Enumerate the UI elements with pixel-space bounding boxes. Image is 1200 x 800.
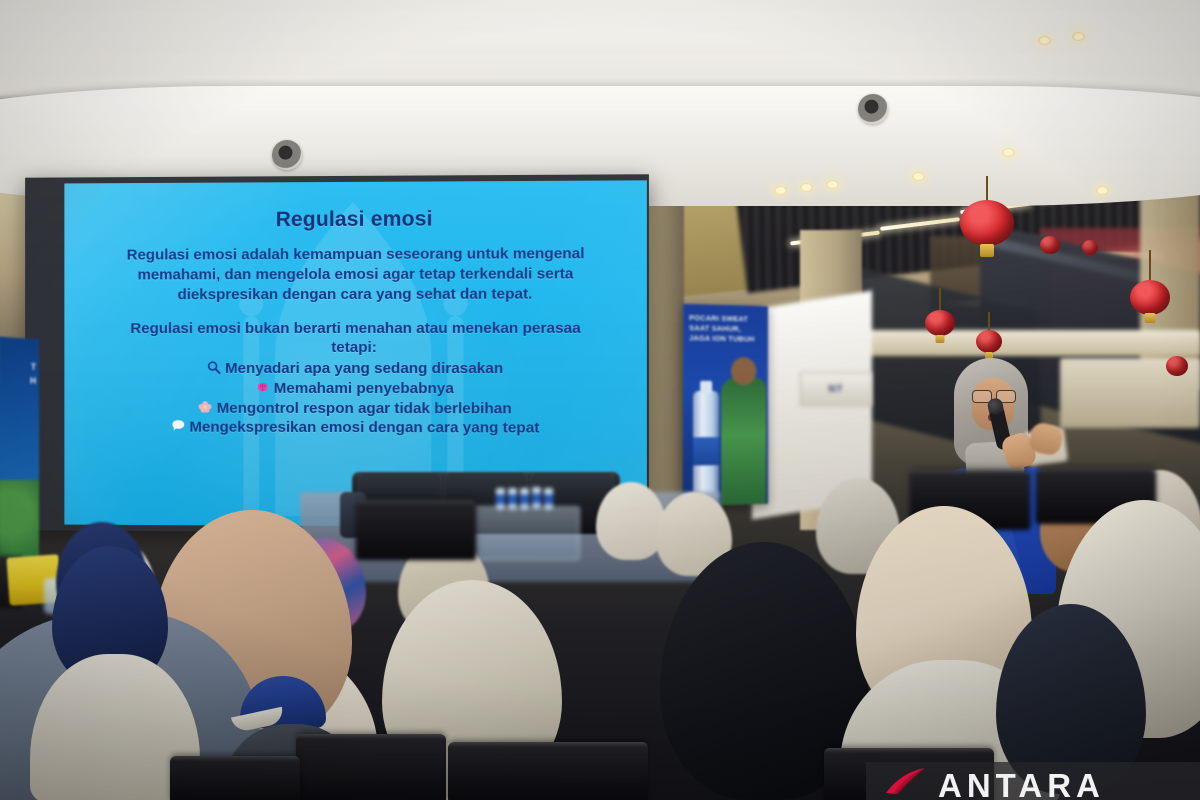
pocari-bottle-image xyxy=(693,391,719,502)
shop-sign-label: NT xyxy=(801,373,871,407)
chair xyxy=(448,742,648,800)
slide-title: Regulasi emosi xyxy=(74,207,639,233)
slide-paragraph-1-line-2: memahami, dan mengelola emosi agar tetap… xyxy=(74,264,639,285)
slide-paragraph-2-line-1: Regulasi emosi bukan berarti menahan ata… xyxy=(74,319,639,339)
water-bottle xyxy=(532,487,541,509)
downlight-icon xyxy=(826,180,839,189)
slide-bullet-text: Mengekspresikan emosi dengan cara yang t… xyxy=(189,419,539,437)
slide-text-content: Regulasi emosi Regulasi emosi adalah kem… xyxy=(64,180,647,438)
slide-bullet-text: Memahami penyebabnya xyxy=(274,380,454,397)
slide-bullet-text: Mengontrol respon agar tidak berlebihan xyxy=(217,399,512,417)
downlight-icon xyxy=(912,172,925,181)
pocari-banner-model xyxy=(721,377,766,505)
balcony-ledge xyxy=(860,330,1200,356)
slide-bullet-item: Mengekspresikan emosi dengan cara yang t… xyxy=(74,418,639,439)
red-lantern xyxy=(925,310,955,336)
speech-bubble-icon xyxy=(171,419,186,434)
red-lantern xyxy=(1082,240,1098,255)
red-lantern xyxy=(960,200,1014,246)
slide-bullet-list: Menyadari apa yang sedang dirasakan Mema… xyxy=(74,359,639,439)
slide-bullet-item: Memahami penyebabnya xyxy=(74,379,639,399)
downlight-icon xyxy=(1096,186,1109,195)
antara-watermark: ANTARA xyxy=(866,762,1200,800)
water-bottle xyxy=(496,488,505,510)
red-lantern xyxy=(976,330,1002,353)
chair xyxy=(296,734,446,800)
slide-paragraph-1-line-1: Regulasi emosi adalah kemampuan seseoran… xyxy=(74,244,639,266)
antara-swoosh-logo-icon xyxy=(884,766,928,796)
left-banner-text: T H xyxy=(30,361,36,388)
pocari-banner-text: POCARI SWEAT SAAT SAHUR, JAGA ION TUBUH xyxy=(689,313,764,344)
left-rollup-banner: T H xyxy=(0,337,39,592)
ceiling-speaker-icon xyxy=(272,140,302,170)
red-lantern xyxy=(1166,356,1188,376)
chair xyxy=(356,500,476,560)
red-lantern xyxy=(1040,236,1060,254)
slide-paragraph-2-line-2: tetapi: xyxy=(74,339,639,356)
slide-bullet-item: Menyadari apa yang sedang dirasakan xyxy=(74,359,639,379)
downlight-icon xyxy=(1072,32,1085,41)
ceiling-speaker-icon-2 xyxy=(858,94,888,124)
slide-paragraph-1-line-3: diekspresikan dengan cara yang sehat dan… xyxy=(74,284,639,305)
water-bottle xyxy=(508,488,517,510)
red-lantern xyxy=(1130,280,1170,315)
downlight-icon xyxy=(800,183,813,192)
slide-bullet-item: Mengontrol respon agar tidak berlebihan xyxy=(74,398,639,419)
magnifying-glass-icon xyxy=(206,360,221,375)
water-bottle xyxy=(520,488,529,510)
slide-bullet-text: Menyadari apa yang sedang dirasakan xyxy=(225,360,503,377)
photo-scene: Regulasi emosi Regulasi emosi adalah kem… xyxy=(0,0,1200,800)
downlight-icon xyxy=(1038,36,1051,45)
brain-icon xyxy=(255,380,270,395)
shop-sign: NT xyxy=(800,372,872,406)
water-bottle xyxy=(544,488,553,510)
downlight-icon xyxy=(774,186,787,195)
antara-watermark-text: ANTARA xyxy=(938,769,1105,800)
downlight-icon xyxy=(1002,148,1015,157)
chair xyxy=(170,756,300,800)
blossom-icon xyxy=(198,399,213,414)
pocari-sweat-banner: POCARI SWEAT SAAT SAHUR, JAGA ION TUBUH xyxy=(683,304,768,506)
